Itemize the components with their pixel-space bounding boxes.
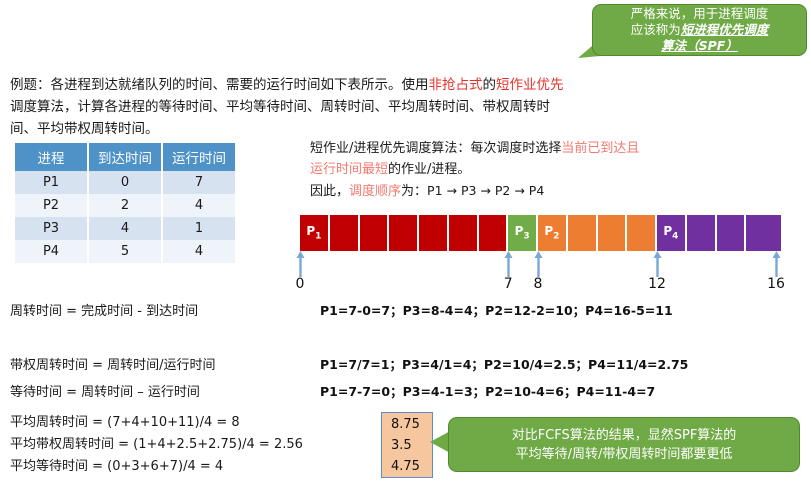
gantt-segment-p4-13: [687, 215, 717, 251]
gantt-tick-arrow-7: [504, 251, 513, 277]
top-callout-bubble: 严格来说，用于进程调度 应该称为短进程优先调度 算法（SPF）: [592, 4, 807, 56]
cell-burst: 4: [162, 194, 235, 217]
gantt-tick-arrow-16: [772, 251, 781, 277]
cell-process: P2: [15, 194, 88, 217]
gantt-chart: P1P3P2P4: [300, 215, 776, 251]
formula-label-turnaround: 周转时间 = 完成时间 - 到达时间: [10, 300, 198, 319]
algo-note-line2: 运行时间最短的作业/进程。: [310, 159, 805, 180]
cell-arrival: 4: [88, 217, 162, 240]
bottom-callout-line2: 平均等待/周转/带权周转时间都要更低: [516, 445, 733, 464]
gantt-segment-p1-2: [360, 215, 390, 251]
table-header-burst: 运行时间: [162, 143, 235, 171]
question-highlight-sjf: 短作业优先: [496, 77, 564, 93]
cell-arrival: 5: [88, 240, 162, 263]
average-waiting: 平均等待时间 = (0+3+6+7)/4 = 4: [10, 456, 303, 478]
cell-process: P4: [15, 240, 88, 263]
fcfs-comparison-box: 8.75 3.5 4.75: [381, 412, 433, 478]
top-callout-line2: 应该称为短进程优先调度: [631, 22, 769, 38]
gantt-segment-p1-6: [479, 215, 509, 251]
schedule-sequence: P1 → P3 → P2 → P4: [427, 183, 544, 198]
gantt-segment-p2-10: [598, 215, 628, 251]
cell-burst: 7: [162, 171, 235, 194]
formula-label-weighted: 带权周转时间 = 周转时间/运行时间: [10, 354, 216, 373]
average-turnaround: 平均周转时间 = (7+4+10+11)/4 = 8: [10, 412, 303, 434]
gantt-tick-arrow-12: [653, 251, 662, 277]
top-callout-emphasis-1: 短进程优先调度: [681, 22, 769, 37]
algo-note-highlight-3: 调度顺序: [349, 184, 401, 199]
bottom-callout-bubble: 对比FCFS算法的结果，显然SPF算法的 平均等待/周转/带权周转时间都要更低: [448, 417, 800, 472]
bottom-callout-line1: 对比FCFS算法的结果，显然SPF算法的: [512, 426, 737, 445]
gantt-tick-label-12: 12: [648, 276, 666, 292]
gantt-segment-p1-4: [419, 215, 449, 251]
cell-process: P3: [15, 217, 88, 240]
gantt-segment-p2-8: P2: [538, 215, 568, 251]
formula-values-turnaround: P1=7-0=7；P3=8-4=4；P2=12-2=10；P4=16-5=11: [320, 300, 673, 319]
gantt-segment-p1-3: [389, 215, 419, 251]
fcfs-value-1: 8.75: [391, 414, 432, 435]
table-header-arrival: 到达时间: [88, 143, 162, 171]
process-table: 进程 到达时间 运行时间 P1 0 7 P2 2 4 P3 4 1 P4 5 4: [15, 143, 235, 263]
algo-note-line3: 因此，调度顺序为：P1 → P3 → P2 → P4: [310, 180, 805, 202]
table-header-process: 进程: [15, 143, 88, 171]
top-callout-line1: 严格来说，用于进程调度: [631, 6, 769, 22]
formula-values-waiting: P1=7-7=0；P3=4-1=3；P2=10-4=6；P4=11-4=7: [320, 381, 655, 400]
gantt-tick-label-16: 16: [767, 276, 785, 292]
algo-note-highlight-2: 运行时间最短: [310, 162, 388, 177]
gantt-segment-p1-0: P1: [300, 215, 330, 251]
gantt-segment-p1-5: [449, 215, 479, 251]
gantt-segment-p4-14: [717, 215, 747, 251]
fcfs-value-2: 3.5: [391, 435, 432, 456]
fcfs-value-3: 4.75: [391, 456, 432, 477]
gantt-segment-p3-7: P3: [508, 215, 538, 251]
formula-values-weighted: P1=7/7=1；P3=4/1=4；P2=10/4=2.5；P4=11/4=2.…: [320, 354, 688, 373]
gantt-tick-label-8: 8: [534, 276, 543, 292]
cell-burst: 1: [162, 217, 235, 240]
algo-note-line1: 短作业/进程优先调度算法：每次调度时选择当前已到达且: [310, 138, 805, 159]
question-part1: 例题：各进程到达就绪队列的时间、需要的运行时间如下表所示。使用: [10, 77, 429, 93]
question-part3: 调度算法，计算各进程的等待时间、平均等待时间、周转时间、平均周转时间、带权周转时…: [10, 99, 550, 137]
table-row: P3 4 1: [15, 217, 235, 240]
gantt-end-marker: [776, 215, 781, 251]
gantt-tick-arrow-0: [296, 251, 305, 277]
cell-process: P1: [15, 171, 88, 194]
gantt-segment-p1-1: [330, 215, 360, 251]
cell-burst: 4: [162, 240, 235, 263]
gantt-segment-p2-11: [627, 215, 657, 251]
cell-arrival: 0: [88, 171, 162, 194]
cell-arrival: 2: [88, 194, 162, 217]
gantt-segment-p4-12: P4: [657, 215, 687, 251]
gantt-segment-p2-9: [568, 215, 598, 251]
table-header-row: 进程 到达时间 运行时间: [15, 143, 235, 171]
gantt-axis: 0781216: [292, 251, 792, 296]
question-highlight-nonpreemptive: 非抢占式: [429, 77, 483, 93]
formula-label-waiting: 等待时间 = 周转时间 – 运行时间: [10, 381, 200, 400]
algo-note-highlight-1: 当前已到达且: [561, 141, 639, 156]
gantt-tick-label-7: 7: [504, 276, 513, 292]
gantt-tick-label-0: 0: [296, 276, 305, 292]
gantt-segment-p4-15: [746, 215, 776, 251]
average-weighted-turnaround: 平均带权周转时间 = (1+4+2.5+2.75)/4 = 2.56: [10, 434, 303, 456]
question-part2: 的: [483, 77, 497, 93]
table-row: P4 5 4: [15, 240, 235, 263]
gantt-tick-arrow-8: [534, 251, 543, 277]
algorithm-note: 短作业/进程优先调度算法：每次调度时选择当前已到达且 运行时间最短的作业/进程。…: [310, 138, 805, 202]
table-row: P2 2 4: [15, 194, 235, 217]
table-row: P1 0 7: [15, 171, 235, 194]
averages-block: 平均周转时间 = (7+4+10+11)/4 = 8 平均带权周转时间 = (1…: [10, 412, 303, 478]
top-callout-emphasis-2: 算法（SPF）: [661, 38, 738, 54]
question-paragraph: 例题：各进程到达就绪队列的时间、需要的运行时间如下表所示。使用非抢占式的短作业优…: [10, 74, 566, 140]
